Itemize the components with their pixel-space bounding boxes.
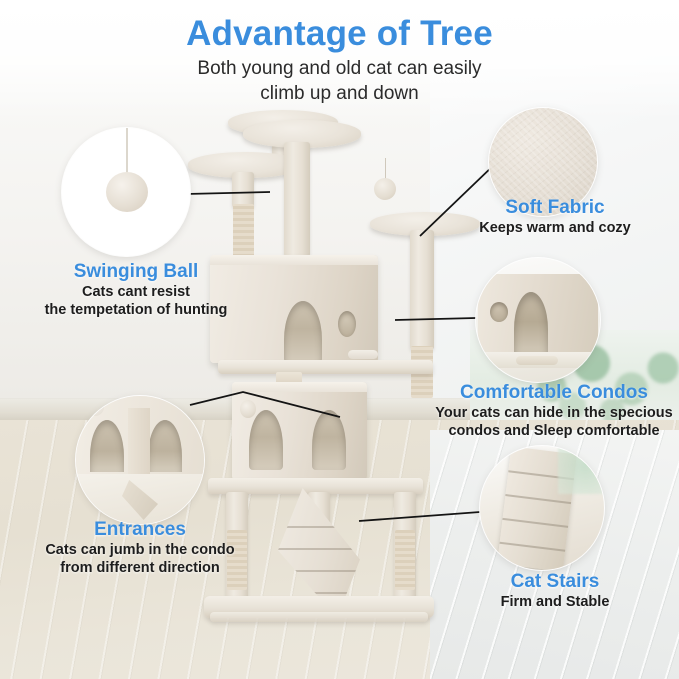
label-swinging-ball: Swinging Ball Cats cant resist the tempe… bbox=[24, 260, 248, 319]
callout-desc-entrances-line1: Cats can jumb in the condo bbox=[22, 541, 258, 559]
stair-step bbox=[278, 592, 360, 594]
callout-desc-comfortable-condos-line1: Your cats can hide in the specious bbox=[430, 404, 678, 422]
right-base-sisal bbox=[395, 530, 415, 590]
callout-title-entrances: Entrances bbox=[22, 518, 258, 541]
lower-condo-roof bbox=[232, 382, 367, 392]
callout-desc-swinging-ball-line1: Cats cant resist bbox=[24, 283, 248, 301]
callout-circle-entrances bbox=[76, 396, 204, 524]
upper-condo-entrance bbox=[284, 301, 322, 363]
left-perch-post bbox=[232, 172, 254, 208]
callout-desc-swinging-ball-line2: the tempetation of hunting bbox=[24, 301, 248, 319]
entrances-inset bbox=[76, 396, 204, 524]
hanging-ball-string bbox=[385, 158, 386, 180]
lower-condo-entrance-right bbox=[312, 410, 346, 470]
comfortable-condos-inset bbox=[476, 258, 600, 382]
inset-condo-porthole bbox=[490, 302, 508, 322]
label-comfortable-condos: Comfortable Condos Your cats can hide in… bbox=[430, 381, 678, 440]
cat-stairs-inset bbox=[480, 446, 604, 570]
label-cat-stairs: Cat Stairs Firm and Stable bbox=[452, 570, 658, 611]
inset-hanging-ball bbox=[86, 398, 104, 416]
callout-desc-soft-fabric-line1: Keeps warm and cozy bbox=[452, 219, 658, 237]
stair-step bbox=[278, 548, 360, 550]
inset-ball-string bbox=[126, 128, 128, 176]
center-main-post bbox=[284, 142, 310, 257]
swinging-ball-inset bbox=[62, 128, 190, 256]
callout-circle-cat-stairs bbox=[480, 446, 604, 570]
infographic-canvas: Swinging Ball Cats cant resist the tempe… bbox=[0, 0, 679, 679]
callout-desc-entrances-line2: from different direction bbox=[22, 559, 258, 577]
right-side-post bbox=[410, 230, 434, 350]
inset-foliage bbox=[558, 446, 604, 494]
lower-condo bbox=[232, 382, 367, 480]
mid-shelf bbox=[218, 360, 433, 374]
callout-desc-comfortable-condos-line2: condos and Sleep comfortable bbox=[430, 422, 678, 440]
inset-pompom-ball bbox=[106, 172, 148, 212]
callout-title-swinging-ball: Swinging Ball bbox=[24, 260, 248, 283]
upper-condo-porthole bbox=[338, 311, 356, 337]
inset-stair-step bbox=[502, 518, 568, 528]
hanging-ball bbox=[374, 178, 396, 200]
lower-condo-toy-ball bbox=[240, 400, 256, 418]
page-subtitle-line2: climb up and down bbox=[0, 81, 679, 106]
callout-title-cat-stairs: Cat Stairs bbox=[452, 570, 658, 593]
callout-circle-comfortable-condos bbox=[476, 258, 600, 382]
callout-title-soft-fabric: Soft Fabric bbox=[452, 196, 658, 219]
stair-step bbox=[278, 570, 360, 572]
stair-step bbox=[278, 526, 360, 528]
base-platform-front bbox=[210, 612, 428, 622]
callout-circle-swinging-ball bbox=[62, 128, 190, 256]
callout-title-comfortable-condos: Comfortable Condos bbox=[430, 381, 678, 404]
callout-desc-cat-stairs-line1: Firm and Stable bbox=[452, 593, 658, 611]
lower-condo-entrance-left bbox=[249, 410, 283, 470]
toy-mouse bbox=[348, 350, 378, 359]
page-title: Advantage of Tree bbox=[0, 14, 679, 54]
label-entrances: Entrances Cats can jumb in the condo fro… bbox=[22, 518, 258, 577]
page-subtitle: Both young and old cat can easily climb … bbox=[0, 56, 679, 106]
left-perch-sisal-post bbox=[233, 204, 254, 260]
inset-stair-step bbox=[499, 542, 565, 552]
inset-center-post bbox=[128, 408, 150, 474]
label-soft-fabric: Soft Fabric Keeps warm and cozy bbox=[452, 196, 658, 237]
page-subtitle-line1: Both young and old cat can easily bbox=[0, 56, 679, 81]
inset-stair-step bbox=[505, 494, 571, 504]
inset-condo-perch bbox=[516, 356, 558, 365]
